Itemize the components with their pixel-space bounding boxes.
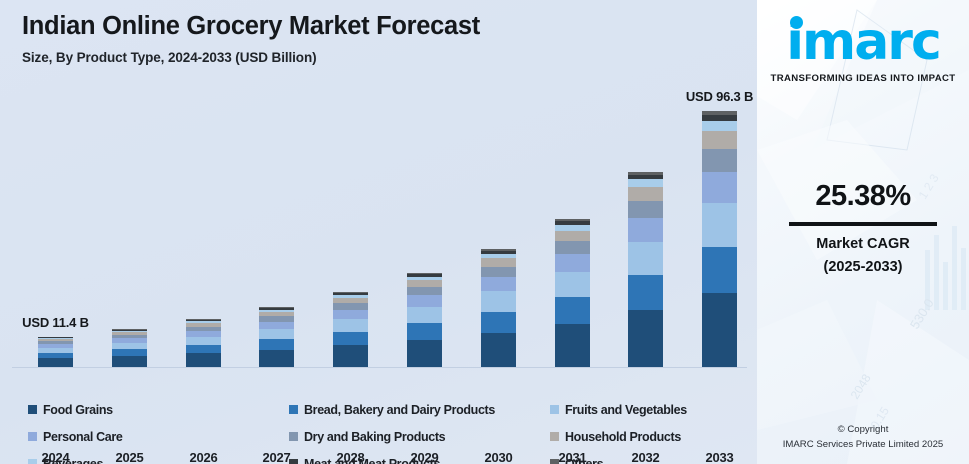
- bar-segment[interactable]: [628, 275, 663, 310]
- chart-legend: Food GrainsBread, Bakery and Dairy Produ…: [0, 400, 757, 464]
- bar-segment[interactable]: [407, 307, 442, 323]
- bar-segment[interactable]: [702, 121, 737, 131]
- bar-segment[interactable]: [407, 280, 442, 287]
- bar-segment[interactable]: [481, 267, 516, 278]
- cagr-period: (2025-2033): [757, 259, 969, 275]
- bar-group-2025[interactable]: [112, 329, 147, 367]
- page-title: Indian Online Grocery Market Forecast: [22, 12, 480, 40]
- bar-segment[interactable]: [333, 345, 368, 367]
- copyright-line-2: IMARC Services Private Limited 2025: [757, 438, 969, 452]
- bar-segment[interactable]: [481, 258, 516, 266]
- legend-item[interactable]: Dry and Baking Products: [289, 427, 550, 446]
- stacked-bar[interactable]: [333, 292, 368, 367]
- bar-segment[interactable]: [628, 201, 663, 219]
- legend-item[interactable]: Meat and Meat Products: [289, 454, 550, 464]
- bar-segment[interactable]: [628, 310, 663, 367]
- plot-area: USD 11.4 B202420252026202720282029203020…: [0, 78, 757, 368]
- stacked-bar[interactable]: [481, 249, 516, 367]
- bar-segment[interactable]: [555, 241, 590, 254]
- bar-segment[interactable]: [481, 312, 516, 333]
- legend-label: Personal Care: [43, 430, 123, 444]
- stacked-bar[interactable]: [112, 329, 147, 367]
- bar-segment[interactable]: [702, 131, 737, 149]
- bar-segment[interactable]: [112, 349, 147, 356]
- bar-segment[interactable]: [112, 356, 147, 367]
- legend-swatch-icon: [550, 432, 559, 441]
- bar-segment[interactable]: [628, 242, 663, 275]
- legend-label: Beverages: [43, 457, 103, 464]
- bar-segment[interactable]: [481, 291, 516, 311]
- imarc-logo: imarc TRANSFORMING IDEAS INTO IMPACT: [757, 18, 969, 84]
- bar-segment[interactable]: [259, 350, 294, 367]
- bar-segment[interactable]: [555, 272, 590, 297]
- bar-segment[interactable]: [481, 333, 516, 367]
- bar-segment[interactable]: [555, 324, 590, 367]
- svg-text:530.0: 530.0: [907, 296, 937, 332]
- legend-item[interactable]: Food Grains: [28, 400, 289, 419]
- legend-item[interactable]: Personal Care: [28, 427, 289, 446]
- bar-segment[interactable]: [481, 277, 516, 291]
- bar-segment[interactable]: [259, 322, 294, 329]
- cagr-label: Market CAGR: [757, 236, 969, 252]
- legend-swatch-icon: [28, 432, 37, 441]
- legend-swatch-icon: [28, 405, 37, 414]
- x-axis-line: [12, 367, 747, 368]
- imarc-logo-text: imarc: [786, 18, 940, 67]
- cagr-block: 25.38% Market CAGR (2025-2033): [757, 180, 969, 275]
- bar-segment[interactable]: [555, 297, 590, 324]
- legend-label: Dry and Baking Products: [304, 430, 445, 444]
- legend-item[interactable]: Household Products: [550, 427, 757, 446]
- stacked-bar[interactable]: [259, 307, 294, 367]
- legend-item[interactable]: Beverages: [28, 454, 289, 464]
- legend-label: Food Grains: [43, 403, 113, 417]
- legend-item[interactable]: Others: [550, 454, 757, 464]
- bar-segment[interactable]: [333, 310, 368, 319]
- bar-segment[interactable]: [702, 172, 737, 203]
- bar-segment[interactable]: [259, 339, 294, 350]
- bar-group-2030[interactable]: [481, 249, 516, 367]
- cagr-value: 25.38%: [757, 180, 969, 213]
- legend-label: Household Products: [565, 430, 681, 444]
- bar-group-2027[interactable]: [259, 307, 294, 367]
- bar-segment[interactable]: [333, 319, 368, 332]
- bar-segment[interactable]: [407, 340, 442, 367]
- bar-segment[interactable]: [407, 295, 442, 306]
- bar-value-label: USD 96.3 B: [686, 89, 753, 104]
- legend-item[interactable]: Fruits and Vegetables: [550, 400, 757, 419]
- bar-segment[interactable]: [407, 323, 442, 340]
- bar-segment[interactable]: [628, 218, 663, 241]
- copyright-notice: © Copyright IMARC Services Private Limit…: [757, 423, 969, 452]
- legend-swatch-icon: [289, 459, 298, 464]
- bar-group-2026[interactable]: [186, 319, 221, 367]
- chart-header: Indian Online Grocery Market Forecast Si…: [22, 12, 480, 65]
- stacked-bar[interactable]: [702, 111, 737, 367]
- bar-segment[interactable]: [259, 329, 294, 339]
- legend-label: Meat and Meat Products: [304, 457, 440, 464]
- legend-label: Bread, Bakery and Dairy Products: [304, 403, 495, 417]
- bar-segment[interactable]: [333, 332, 368, 346]
- bar-segment[interactable]: [186, 337, 221, 345]
- chart-screenshot: Indian Online Grocery Market Forecast Si…: [0, 0, 969, 464]
- bar-segment[interactable]: [333, 303, 368, 310]
- stacked-bar[interactable]: [628, 172, 663, 367]
- imarc-brand-panel: 530.0 2048 0.15 1 2 3 imarc TRANSFORMING…: [757, 0, 969, 464]
- stacked-bar[interactable]: [407, 273, 442, 367]
- bar-value-label: USD 11.4 B: [22, 315, 89, 330]
- bar-segment[interactable]: [702, 293, 737, 367]
- bar-group-2028[interactable]: [333, 292, 368, 367]
- bar-group-2033[interactable]: USD 96.3 B: [702, 111, 737, 367]
- bar-segment[interactable]: [186, 345, 221, 354]
- legend-swatch-icon: [289, 405, 298, 414]
- legend-swatch-icon: [550, 459, 559, 464]
- cagr-divider: [789, 222, 937, 226]
- legend-label: Others: [565, 457, 603, 464]
- bar-segment[interactable]: [628, 179, 663, 187]
- bar-segment[interactable]: [186, 353, 221, 367]
- svg-text:2048: 2048: [848, 371, 874, 401]
- stacked-bar[interactable]: [38, 337, 73, 367]
- bar-segment[interactable]: [628, 187, 663, 201]
- legend-item[interactable]: Bread, Bakery and Dairy Products: [289, 400, 550, 419]
- bar-segment[interactable]: [38, 358, 73, 367]
- page-subtitle: Size, By Product Type, 2024-2033 (USD Bi…: [22, 50, 480, 65]
- stacked-bar[interactable]: [555, 219, 590, 367]
- bar-segment[interactable]: [555, 231, 590, 241]
- bar-segment[interactable]: [702, 149, 737, 172]
- legend-swatch-icon: [28, 459, 37, 464]
- bar-group-2031[interactable]: [555, 219, 590, 367]
- stacked-bar[interactable]: [186, 319, 221, 367]
- chart-panel: Indian Online Grocery Market Forecast Si…: [0, 0, 757, 464]
- bar-segment[interactable]: [407, 287, 442, 295]
- bar-segment[interactable]: [555, 254, 590, 272]
- copyright-line-1: © Copyright: [757, 423, 969, 437]
- imarc-tagline: TRANSFORMING IDEAS INTO IMPACT: [757, 73, 969, 84]
- legend-swatch-icon: [550, 405, 559, 414]
- bar-segment[interactable]: [702, 247, 737, 293]
- bar-group-2029[interactable]: [407, 273, 442, 367]
- bar-group-2024[interactable]: USD 11.4 B: [38, 337, 73, 367]
- bar-segment[interactable]: [702, 203, 737, 247]
- legend-label: Fruits and Vegetables: [565, 403, 687, 417]
- bar-group-2032[interactable]: [628, 172, 663, 367]
- legend-swatch-icon: [289, 432, 298, 441]
